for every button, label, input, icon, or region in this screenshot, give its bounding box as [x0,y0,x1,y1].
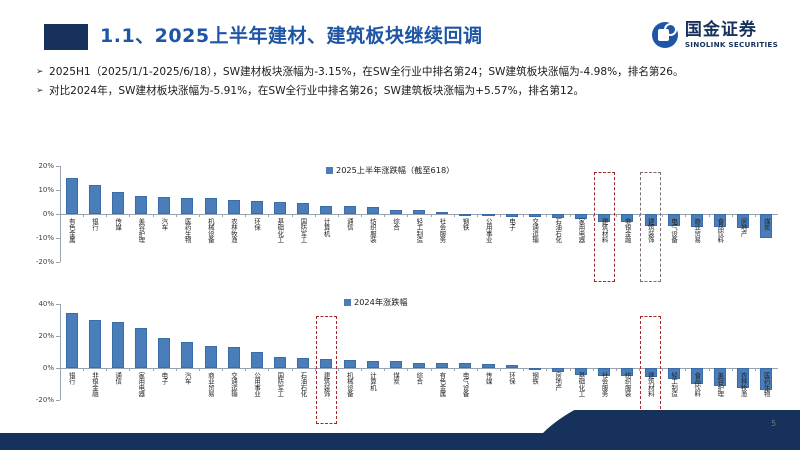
x-axis-tick [477,214,478,217]
bullet-arrow-icon: ➢ [36,64,49,80]
x-axis-category-label: 机械设备 [207,218,214,242]
bar [343,206,355,214]
bar [158,338,170,368]
bar-group [153,292,176,424]
x-axis-tick [106,368,107,371]
x-axis-category-label: 农林牧渔 [740,372,747,396]
bar-group [454,292,477,424]
x-axis-tick [500,368,501,371]
x-axis-category-label: 煤炭 [393,372,400,384]
bar-group [292,292,315,424]
x-axis-category-label: 计算机 [369,372,376,390]
bar-group [732,292,755,424]
x-axis-category-label: 钢铁 [462,218,469,230]
bar-group [431,292,454,424]
x-axis-category-label: 银行 [91,218,98,230]
x-axis-tick [153,214,154,217]
bar [320,206,332,214]
chart-plot-area: 20%10%0%-10%-20%有色金属银行传媒美容护理汽车医药生物机械设备农林… [26,156,782,284]
x-axis-category-label: 环保 [508,372,515,384]
bullet-item: ➢ 对比2024年，SW建材板块涨幅为-5.91%，在SW全行业中排名第26；S… [36,83,776,100]
x-axis-tick [83,368,84,371]
chart-legend: 2025上半年涨跌幅（截至618） [326,164,454,176]
bar-group [245,292,268,424]
slide-header: 1.1、2025上半年建材、建筑板块继续回调 国金证券 SINOLINK SEC… [0,18,800,62]
bar-group [268,292,291,424]
bar [205,198,217,214]
x-axis-category-label: 有色金属 [439,372,446,396]
x-axis-category-label: 通信 [115,372,122,384]
bar [274,202,286,214]
x-axis-category-label: 煤炭 [763,218,770,230]
y-axis-tick-label: 20% [38,332,54,340]
x-axis-tick [361,214,362,217]
x-axis-category-label: 非银金融 [624,218,631,242]
y-axis-tick-label: 40% [38,300,54,308]
bar-group [338,292,361,424]
y-axis-tick-label: -10% [36,234,54,242]
x-axis-category-label: 医药生物 [184,218,191,242]
bar-group [176,292,199,424]
bar [436,363,448,368]
x-axis-tick [732,214,733,217]
bar-group [199,292,222,424]
x-axis-category-label: 银行 [68,372,75,384]
x-axis-category-label: 国防军工 [277,372,284,396]
x-axis-tick [407,368,408,371]
x-axis-tick [106,214,107,217]
bar [367,361,379,368]
bar [297,203,309,214]
x-axis-category-label: 石油石化 [300,372,307,396]
x-axis-tick [176,368,177,371]
bar [343,360,355,368]
x-axis-category-label: 国防军工 [300,218,307,242]
logo-name-cn: 国金证券 [685,22,778,40]
bar-group [315,292,338,424]
x-axis-tick [60,214,61,217]
x-axis-category-label: 基础化工 [277,218,284,242]
x-axis-category-label: 家用电器 [138,372,145,396]
x-axis-category-label: 房地产 [740,218,747,236]
x-axis-category-label: 综合 [393,218,400,230]
slide-footer: 5 [0,410,800,450]
x-axis-tick [292,368,293,371]
x-axis-category-label: 建筑装饰 [323,372,330,396]
bar [112,192,124,214]
bar-group [616,292,639,424]
bar [66,313,78,368]
bar-group [60,292,83,424]
bar [228,200,240,214]
x-axis-tick [662,368,663,371]
bullet-list: ➢ 2025H1（2025/1/1-2025/6/18），SW建材板块涨幅为-3… [36,64,776,103]
bar-group [477,292,500,424]
x-axis-category-label: 交通运输 [532,218,539,242]
x-axis-category-label: 环保 [254,218,261,230]
x-axis-category-label: 传媒 [485,372,492,384]
x-axis-tick [639,368,640,371]
page-title: 1.1、2025上半年建材、建筑板块继续回调 [100,21,483,48]
logo-name-en: SINOLINK SECURITIES [685,40,778,49]
bar [529,368,541,370]
x-axis-tick [338,214,339,217]
x-axis-tick [431,368,432,371]
bar [228,347,240,368]
x-axis-category-label: 基础化工 [578,372,585,396]
x-axis-category-label: 电子 [161,372,168,384]
bar [482,364,494,368]
bar [181,342,193,368]
bar [367,207,379,214]
legend-swatch [344,299,351,306]
bar-group [546,292,569,424]
bar [390,210,402,214]
x-axis-category-label: 交通运输 [230,372,237,396]
bar [320,359,332,368]
bar-group [523,292,546,424]
x-axis-category-label: 非银金融 [91,372,98,396]
bullet-arrow-icon: ➢ [36,83,49,99]
x-axis-tick [454,214,455,217]
x-axis-tick [685,368,686,371]
x-axis-tick [523,214,524,217]
x-axis-tick [407,214,408,217]
bar-group [685,292,708,424]
x-axis-category-label: 食品饮料 [694,372,701,396]
x-axis-tick [616,368,617,371]
x-axis-category-label: 计算机 [323,218,330,236]
x-axis-tick [709,368,710,371]
x-axis-category-label: 家用电器 [578,218,585,242]
slide-root: 1.1、2025上半年建材、建筑板块继续回调 国金证券 SINOLINK SEC… [0,0,800,450]
x-axis-category-label: 轻工制造 [416,218,423,242]
bar [413,363,425,368]
chart-plot-area: 40%20%0%-20%银行非银金融通信家用电器电子汽车商业贸易交通运输公用事业… [26,292,782,424]
bar-group [709,292,732,424]
bar [413,210,425,214]
x-axis-tick [129,368,130,371]
chart-legend: 2024年涨跌幅 [344,296,408,308]
bar-group [639,292,662,424]
bar [529,214,541,217]
x-axis-category-label: 公用事业 [254,372,261,396]
bar [506,365,518,368]
x-axis-tick [755,214,756,217]
x-axis-category-label: 电子 [508,218,515,230]
bar [274,357,286,368]
x-axis-category-label: 有色金属 [68,218,75,242]
x-axis-category-label: 商业贸易 [694,218,701,242]
x-axis-tick [129,214,130,217]
bar [135,196,147,214]
x-axis-category-label: 建筑装饰 [647,218,654,242]
x-axis-category-label: 建筑材料 [647,372,654,396]
x-axis-tick [431,214,432,217]
chart-2024-sector-returns: 40%20%0%-20%银行非银金融通信家用电器电子汽车商业贸易交通运输公用事业… [26,292,782,424]
bar [297,358,309,368]
x-axis-tick [454,368,455,371]
x-axis-category-label: 电气设备 [671,218,678,242]
x-axis-category-label: 轻工制造 [671,372,678,396]
x-axis-tick [361,368,362,371]
x-axis-category-label: 纺织服装 [369,218,376,242]
y-axis-tick-label: -20% [36,396,54,404]
x-axis-category-label: 房地产 [555,372,562,390]
bar-group [570,292,593,424]
x-axis-tick [268,214,269,217]
x-axis-category-label: 电气设备 [462,372,469,396]
x-axis-tick [546,214,547,217]
title-accent-block [44,24,88,50]
bar-group [106,292,129,424]
x-axis-category-label: 社会服务 [601,372,608,396]
bar-group [83,292,106,424]
bar-group [361,292,384,424]
bar [390,361,402,368]
bar-group [222,292,245,424]
bar-group [755,292,778,424]
x-axis-category-label: 美容护理 [717,372,724,396]
x-axis-tick [199,368,200,371]
bar [436,212,448,214]
x-axis-category-label: 综合 [416,372,423,384]
bullet-text: 对比2024年，SW建材板块涨幅为-5.91%，在SW全行业中排名第26；SW建… [49,83,776,100]
y-axis-tick-label: 0% [43,364,54,372]
x-axis-tick [384,214,385,217]
x-axis-tick [245,368,246,371]
x-axis-tick [755,368,756,371]
legend-swatch [326,167,333,174]
bar-group [384,292,407,424]
x-axis-tick [593,368,594,371]
chart-2025h1-sector-returns: 20%10%0%-10%-20%有色金属银行传媒美容护理汽车医药生物机械设备农林… [26,156,782,284]
x-axis-tick [338,368,339,371]
bar [112,322,124,368]
bar [181,198,193,214]
x-axis-tick [222,214,223,217]
x-axis-category-label: 纺织服装 [624,372,631,396]
legend-label: 2025上半年涨跌幅（截至618） [336,164,454,176]
x-axis-tick [570,214,571,217]
bar [506,214,518,217]
bar-group [500,292,523,424]
company-logo: 国金证券 SINOLINK SECURITIES [652,22,778,49]
x-axis-category-label: 美容护理 [138,218,145,242]
x-axis-tick [593,214,594,217]
bullet-item: ➢ 2025H1（2025/1/1-2025/6/18），SW建材板块涨幅为-3… [36,64,776,81]
x-axis-tick [315,214,316,217]
x-axis-tick [60,368,61,371]
x-axis-category-label: 钢铁 [532,372,539,384]
x-axis-tick [245,214,246,217]
x-axis-tick [523,368,524,371]
x-axis-category-label: 农林牧渔 [230,218,237,242]
x-axis-category-label: 公用事业 [485,218,492,242]
bar [459,363,471,368]
x-axis-tick [222,368,223,371]
x-axis-tick [268,368,269,371]
x-axis-tick [546,368,547,371]
x-axis-tick [83,214,84,217]
bar [482,214,494,216]
legend-label: 2024年涨跌幅 [354,296,408,308]
x-axis-tick [616,214,617,217]
x-axis-tick [662,214,663,217]
x-axis-category-label: 社会服务 [439,218,446,242]
x-axis-tick [292,214,293,217]
bar [66,178,78,214]
sinolink-logo-icon [652,22,678,48]
y-axis-tick-label: -20% [36,258,54,266]
bar [89,320,101,368]
page-number: 5 [771,419,776,428]
x-axis-category-label: 汽车 [184,372,191,384]
bar-group [129,292,152,424]
x-axis-tick [732,368,733,371]
bar [205,346,217,368]
y-axis-tick-label: 0% [43,210,54,218]
x-axis-tick [570,368,571,371]
x-axis-tick [384,368,385,371]
bar-group [593,292,616,424]
bar [158,197,170,214]
bar [89,185,101,214]
bullet-text: 2025H1（2025/1/1-2025/6/18），SW建材板块涨幅为-3.1… [49,64,776,81]
y-axis-tick-label: 10% [38,186,54,194]
y-axis-tick-label: 20% [38,162,54,170]
bar [135,328,147,368]
x-axis-tick [685,214,686,217]
x-axis-tick [176,214,177,217]
x-axis-tick [639,214,640,217]
bar [459,214,471,216]
footer-bar [0,433,800,450]
x-axis-category-label: 石油石化 [555,218,562,242]
x-axis-tick [500,214,501,217]
x-axis-category-label: 商业贸易 [207,372,214,396]
x-axis-category-label: 建筑材料 [601,218,608,242]
x-axis-category-label: 传媒 [115,218,122,230]
x-axis-category-label: 汽车 [161,218,168,230]
bar-group [662,292,685,424]
x-axis-tick [199,214,200,217]
x-axis-category-label: 医药生物 [763,372,770,396]
bar [251,201,263,214]
x-axis-category-label: 食品饮料 [717,218,724,242]
x-axis-tick [477,368,478,371]
x-axis-tick [153,368,154,371]
x-axis-tick [709,214,710,217]
bar [251,352,263,368]
bar-group [407,292,430,424]
x-axis-category-label: 机械设备 [346,372,353,396]
x-axis-tick [315,368,316,371]
x-axis-category-label: 通信 [346,218,353,230]
